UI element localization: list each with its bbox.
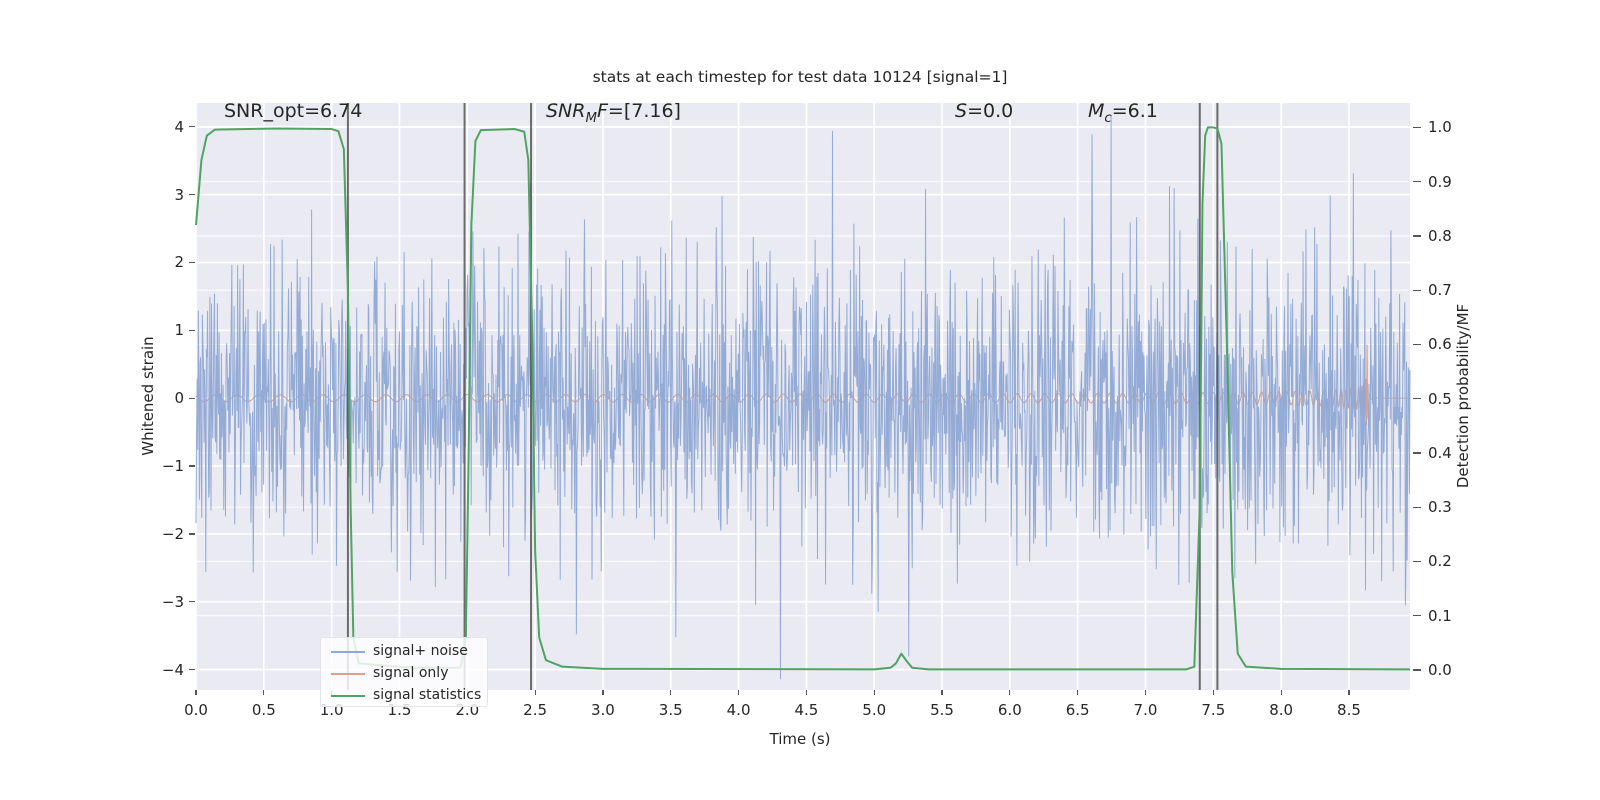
y-tick-mark-right [1413,127,1421,128]
legend-label-signal-noise: signal+ noise [373,643,468,659]
legend-swatch-signal-noise [331,651,365,653]
x-tick-mark [195,690,196,695]
y-tick-mark-right [1413,615,1421,616]
y-tick-mark-left [189,601,195,602]
x-tick-mark [1145,690,1146,695]
x-tick-label: 2.5 [523,701,547,719]
legend-item-signal-only: signal only [321,663,487,685]
y-tick-mark-left [189,398,195,399]
x-tick-label: 5.5 [930,701,954,719]
x-axis-label: Time (s) [0,730,1600,748]
x-tick-label: 6.5 [1066,701,1090,719]
x-tick-label: 4.0 [727,701,751,719]
x-tick-mark [874,690,875,695]
y-tick-label-right: 0.4 [1428,444,1452,462]
y-tick-mark-right [1413,290,1421,291]
x-tick-label: 5.0 [862,701,886,719]
x-tick-mark [738,690,739,695]
y-tick-mark-left [189,465,195,466]
x-tick-mark [670,690,671,695]
y-tick-label-left: 2 [154,253,184,271]
x-tick-label: 8.5 [1337,701,1361,719]
plot-area [196,103,1410,690]
y-tick-label-left: 3 [154,186,184,204]
annotation-snr-opt: SNR_opt=6.74 [224,100,362,122]
x-tick-label: 0.5 [252,701,276,719]
x-tick-mark [806,690,807,695]
y-tick-mark-left [189,262,195,263]
x-tick-mark [535,690,536,695]
y-tick-label-right: 1.0 [1428,118,1452,136]
y-tick-label-right: 0.3 [1428,498,1452,516]
x-tick-label: 3.5 [659,701,683,719]
legend-swatch-signal-only [331,673,365,675]
y-tick-label-left: 4 [154,118,184,136]
x-tick-mark [602,690,603,695]
x-tick-mark [1009,690,1010,695]
y-tick-mark-left [189,194,195,195]
y-tick-mark-right [1413,235,1421,236]
y-tick-label-right: 0.1 [1428,607,1452,625]
legend-item-signal-statistics: signal statistics [321,685,487,707]
figure-canvas: stats at each timestep for test data 101… [0,0,1600,800]
x-tick-label: 6.0 [998,701,1022,719]
y-tick-label-right: 0.9 [1428,173,1452,191]
y-tick-mark-right [1413,561,1421,562]
x-tick-mark [1281,690,1282,695]
y-tick-mark-right [1413,507,1421,508]
y-tick-mark-left [189,330,195,331]
annotation-s-stat: S=0.0 [955,100,1013,122]
x-tick-mark [1077,690,1078,695]
legend-box: signal+ noise signal only signal statist… [320,637,488,707]
y-tick-label-right: 0.8 [1428,227,1452,245]
y-tick-mark-right [1413,452,1421,453]
x-tick-label: 0.0 [184,701,208,719]
legend-swatch-signal-statistics [331,695,365,697]
x-tick-label: 7.5 [1201,701,1225,719]
y-tick-label-left: −1 [154,457,184,475]
x-tick-label: 8.0 [1269,701,1293,719]
y-tick-mark-right [1413,344,1421,345]
y-tick-label-left: 0 [154,389,184,407]
y-tick-mark-right [1413,398,1421,399]
legend-item-signal-noise: signal+ noise [321,641,487,663]
y-tick-label-right: 0.0 [1428,661,1452,679]
y-tick-label-left: −4 [154,661,184,679]
y-tick-mark-left [189,533,195,534]
x-tick-mark [263,690,264,695]
legend-label-signal-statistics: signal statistics [373,687,481,703]
x-tick-label: 4.5 [794,701,818,719]
y-tick-label-right: 0.6 [1428,335,1452,353]
chart-svg [196,103,1410,690]
x-tick-mark [1213,690,1214,695]
y-tick-label-right: 0.7 [1428,281,1452,299]
y-tick-label-left: −3 [154,593,184,611]
y-tick-mark-right [1413,669,1421,670]
y-tick-label-right: 0.5 [1428,390,1452,408]
y-tick-mark-left [189,126,195,127]
legend-label-signal-only: signal only [373,665,448,681]
x-tick-label: 3.0 [591,701,615,719]
y-tick-mark-left [189,669,195,670]
annotation-snr-mf: SNRMF=[7.16] [546,100,681,126]
y-tick-mark-right [1413,181,1421,182]
x-tick-label: 7.0 [1134,701,1158,719]
y-axis-label-right: Detection probability/MF [1454,304,1472,488]
x-tick-mark [1348,690,1349,695]
y-tick-label-left: 1 [154,321,184,339]
annotation-chirp-mass: Mc=6.1 [1088,100,1158,126]
plot-title: stats at each timestep for test data 101… [0,68,1600,86]
y-tick-label-left: −2 [154,525,184,543]
y-tick-label-right: 0.2 [1428,552,1452,570]
x-tick-mark [941,690,942,695]
